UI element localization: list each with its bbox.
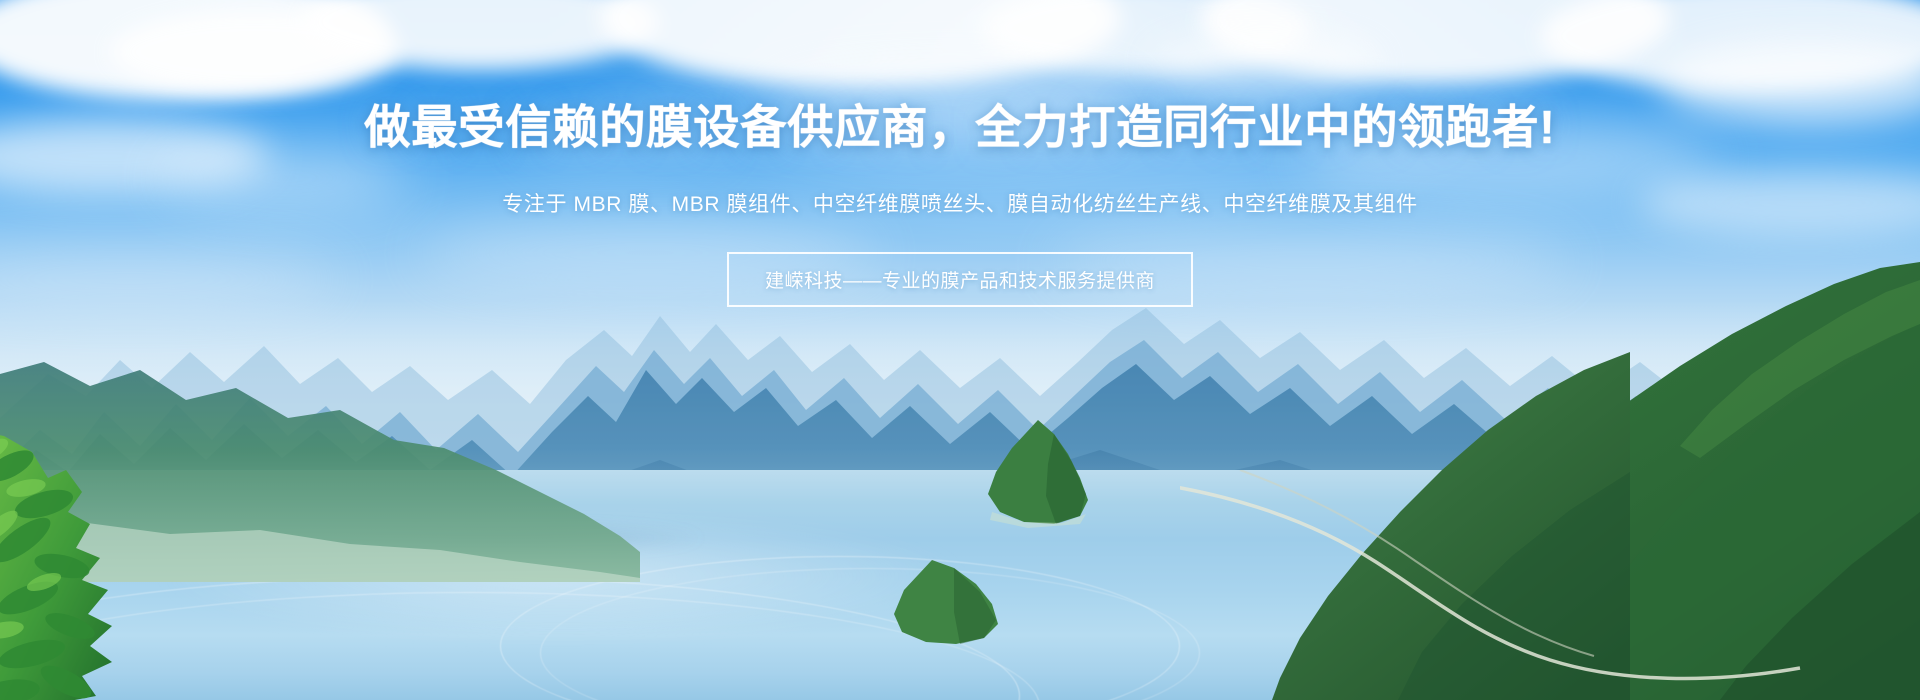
hero-banner: 做最受信赖的膜设备供应商，全力打造同行业中的领跑者! 专注于 MBR 膜、MBR… xyxy=(0,0,1920,700)
banner-tagline-box: 建嵘科技——专业的膜产品和技术服务提供商 xyxy=(727,252,1193,307)
banner-content: 做最受信赖的膜设备供应商，全力打造同行业中的领跑者! 专注于 MBR 膜、MBR… xyxy=(0,0,1920,700)
banner-headline: 做最受信赖的膜设备供应商，全力打造同行业中的领跑者! xyxy=(364,104,1555,150)
banner-subheadline: 专注于 MBR 膜、MBR 膜组件、中空纤维膜喷丝头、膜自动化纺丝生产线、中空纤… xyxy=(502,188,1417,218)
